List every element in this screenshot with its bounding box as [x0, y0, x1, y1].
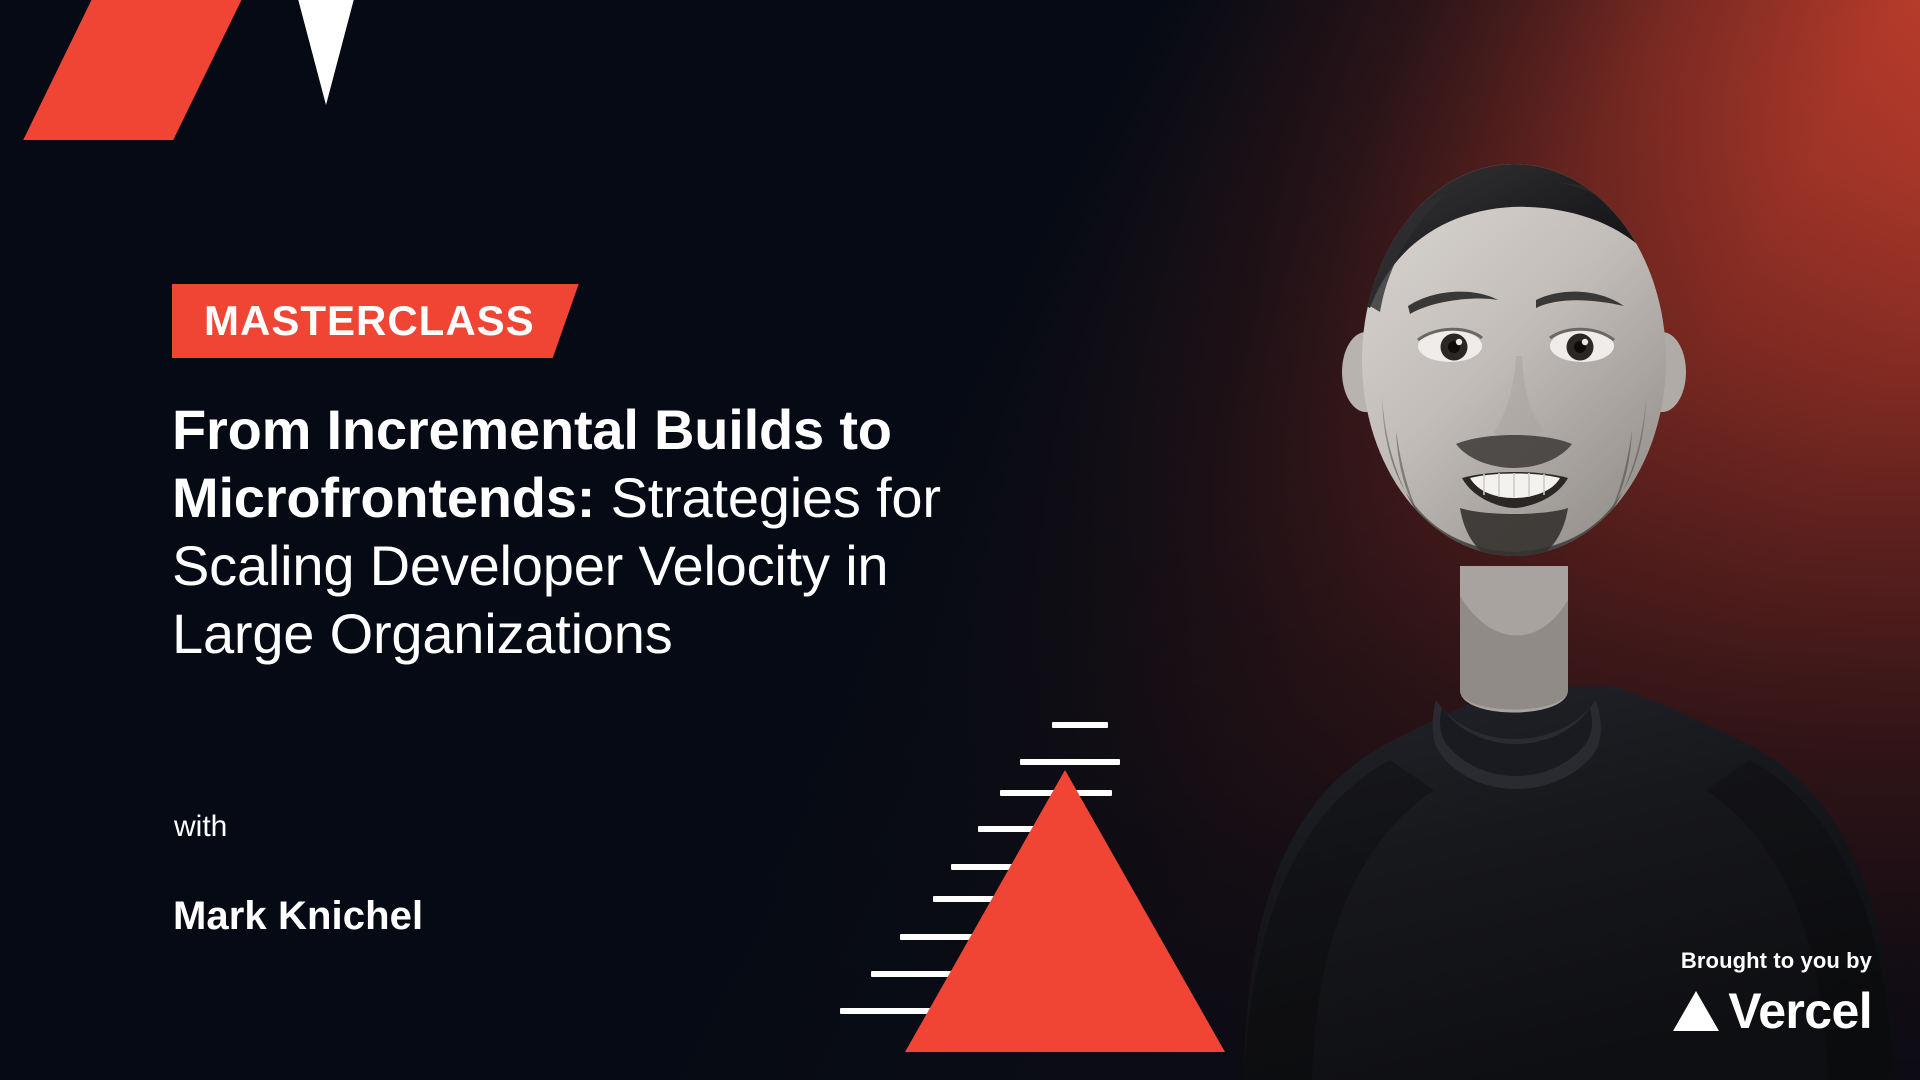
triangle-icon	[1673, 991, 1719, 1031]
speaker-portrait	[1200, 0, 1920, 1080]
title-line-4: Large Organizations	[172, 600, 1162, 668]
content-block: MASTERCLASS From Incremental Builds to M…	[172, 0, 1202, 1080]
speaker-name: Mark Knichel	[173, 896, 423, 936]
masterclass-promo-card: MASTERCLASS From Incremental Builds to M…	[0, 0, 1920, 1080]
sponsor-kicker: Brought to you by	[1673, 950, 1872, 972]
masterclass-badge-label: MASTERCLASS	[204, 300, 535, 342]
title-line-3: Scaling Developer Velocity in	[172, 532, 1162, 600]
with-label: with	[174, 812, 227, 842]
title-line-2-regular: Strategies for	[595, 466, 941, 529]
title-line-2-bold: Microfrontends:	[172, 466, 595, 529]
vercel-logo: Vercel	[1673, 986, 1872, 1036]
masterclass-badge: MASTERCLASS	[172, 284, 579, 358]
page-title: From Incremental Builds to Microfrontend…	[172, 396, 1162, 668]
sponsor-lockup: Brought to you by Vercel	[1673, 950, 1872, 1036]
title-line-1: From Incremental Builds to	[172, 396, 1162, 464]
vercel-wordmark: Vercel	[1728, 986, 1872, 1036]
